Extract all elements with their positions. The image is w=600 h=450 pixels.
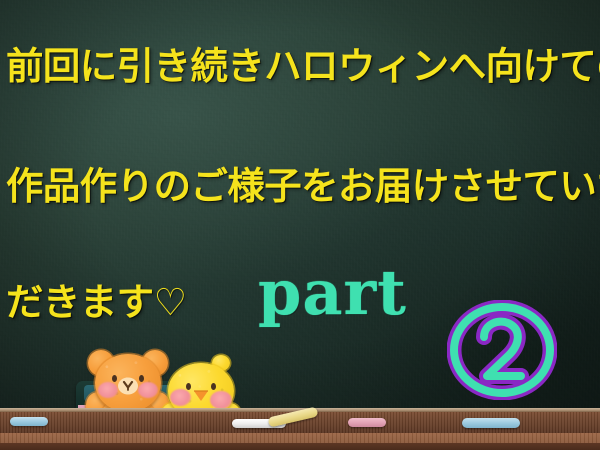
chalk-blue-left (10, 417, 48, 426)
chalk-pink (348, 418, 386, 427)
circled-number-two-icon (447, 300, 557, 400)
ledge-front (0, 433, 600, 443)
part-label: part (258, 262, 407, 324)
headline-line-3: だきます♡ (6, 272, 256, 326)
ledge-shadow (0, 443, 600, 450)
title-card-image: 前回に引き続きハロウィンへ向けての 作品作りのご様子をお届けさせていた だきます… (0, 0, 600, 450)
headline-line-2: 作品作りのご様子をお届けさせていた (6, 156, 598, 210)
chalk-blue-right (462, 418, 520, 428)
headline-line-1: 前回に引き続きハロウィンへ向けての (6, 36, 598, 90)
